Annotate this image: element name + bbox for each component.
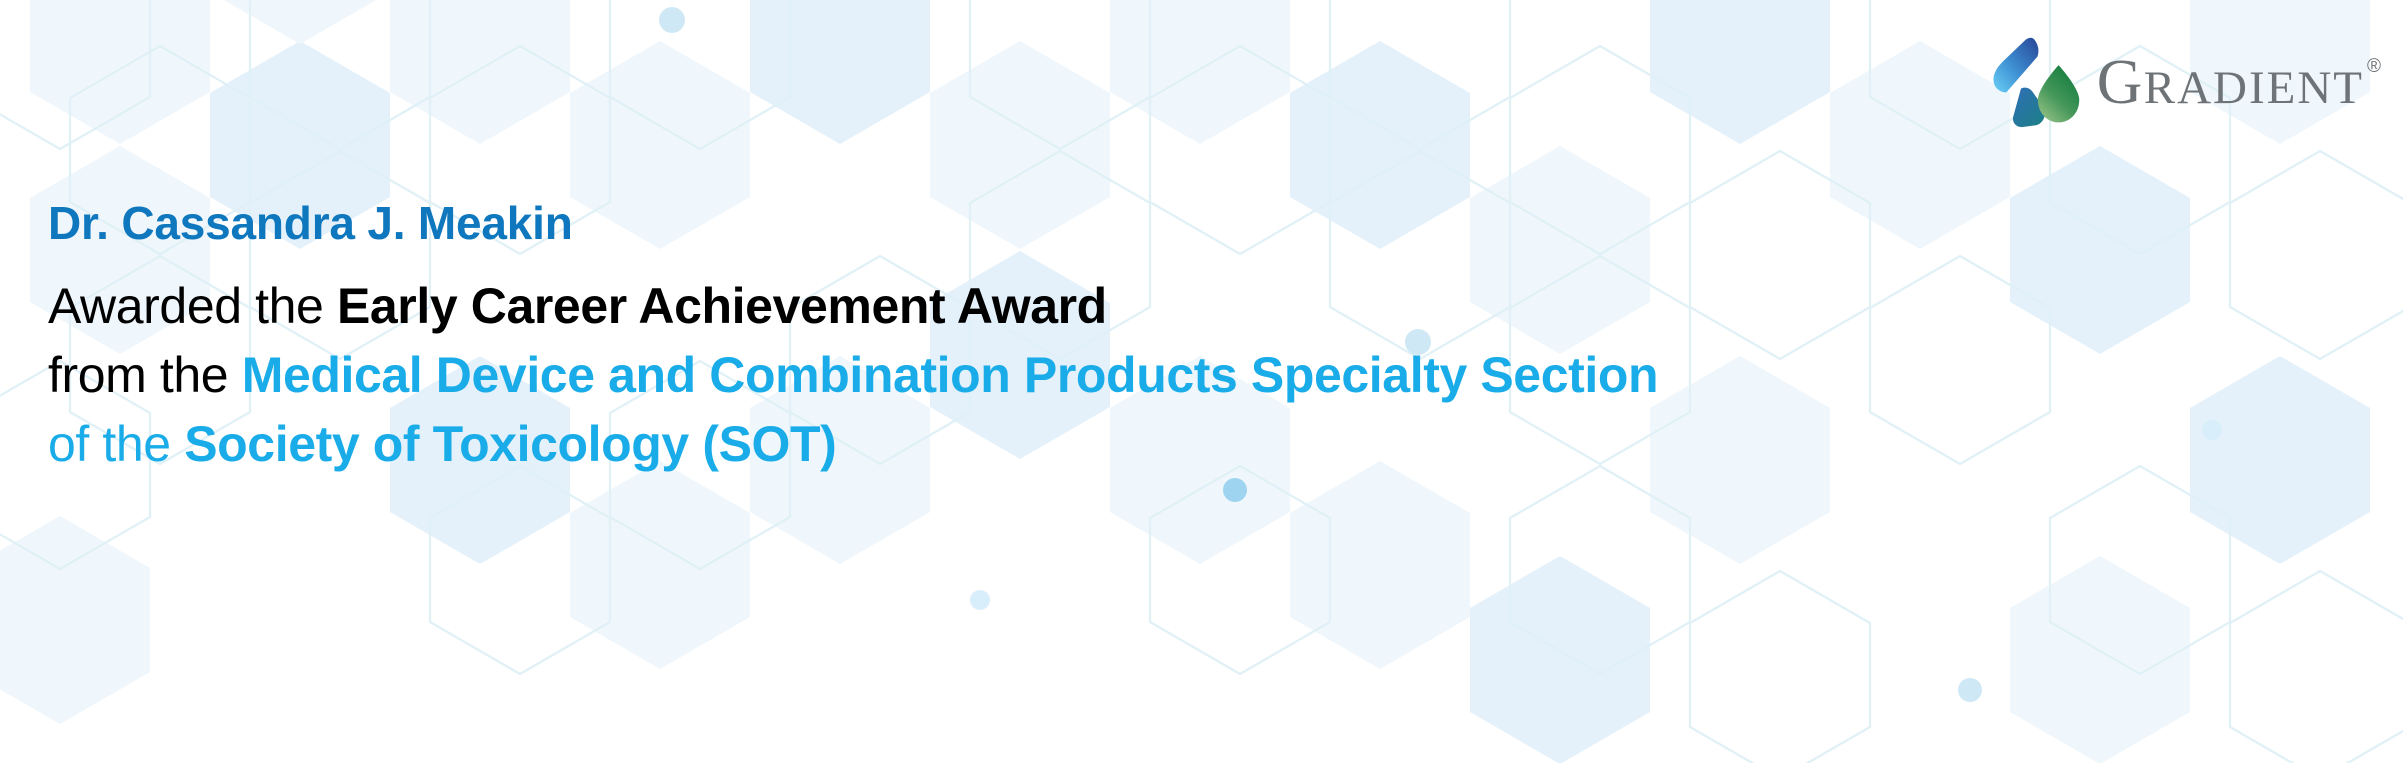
registered-trademark-icon: ®: [2367, 57, 2381, 76]
announcement-text-block: Dr. Cassandra J. Meakin Awarded the Earl…: [48, 196, 2198, 479]
organization-name: Society of Toxicology (SOT): [184, 416, 836, 472]
award-line-3: of the Society of Toxicology (SOT): [48, 410, 2198, 479]
award-line-1: Awarded the Early Career Achievement Awa…: [48, 272, 2198, 341]
award-announcement-banner: GRADIENT ® Dr. Cassandra J. Meakin Award…: [0, 0, 2403, 763]
award-line-1-regular: Awarded the: [48, 278, 337, 334]
award-name: Early Career Achievement Award: [337, 278, 1107, 334]
award-line-2-regular: from the: [48, 347, 242, 403]
wordmark-rest-letters: RADIENT: [2144, 62, 2364, 114]
gradient-wordmark-text: GRADIENT: [2097, 51, 2364, 114]
award-line-3-regular: of the: [48, 416, 184, 472]
gradient-wordmark: GRADIENT ®: [2097, 51, 2381, 114]
honoree-name: Dr. Cassandra J. Meakin: [48, 196, 2198, 250]
gradient-logo: GRADIENT ®: [1989, 34, 2381, 130]
award-line-2: from the Medical Device and Combination …: [48, 341, 2198, 410]
gradient-logo-mark-icon: [1989, 34, 2083, 130]
specialty-section-name: Medical Device and Combination Products …: [242, 347, 1658, 403]
wordmark-first-letter: G: [2097, 47, 2144, 117]
